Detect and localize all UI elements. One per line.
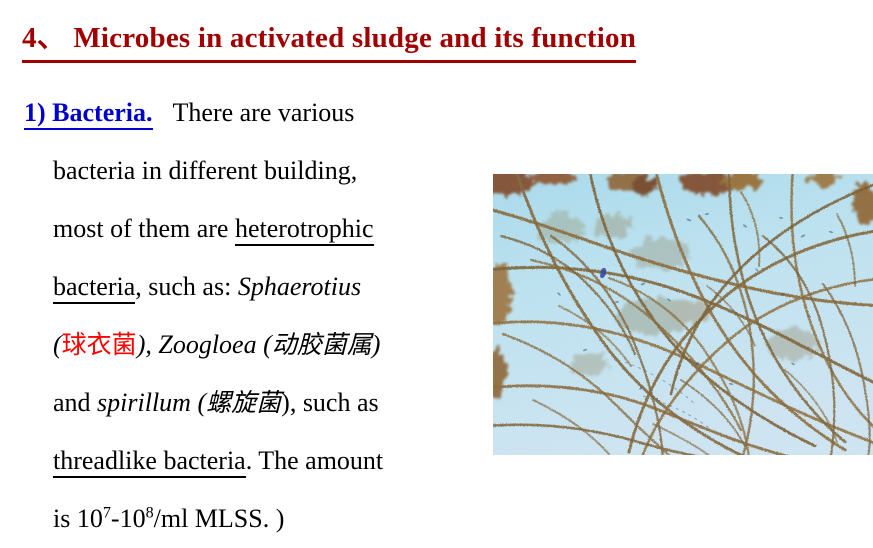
page-title: 4、 Microbes in activated sludge and its … — [22, 14, 722, 63]
line-8-prefix: is 10 — [53, 504, 103, 533]
paren-open-2: ( — [257, 330, 272, 359]
body-text-block: 1) Bacteria.There are various bacteria i… — [24, 84, 494, 548]
body-line-7: threadlike bacteria. The amount — [24, 432, 494, 490]
chinese-term-luoxuanjun: 螺旋菌 — [206, 388, 281, 417]
line-6-prefix: and — [53, 388, 97, 417]
underlined-term-heterotrophic: heterotrophic — [235, 214, 374, 246]
line-7-rest: . The amount — [246, 446, 383, 475]
exponent-8: 8 — [146, 504, 154, 521]
line-8-mid: -10 — [111, 504, 146, 533]
species-name-zoogloea: Zoogloea — [158, 330, 256, 359]
line-6-suffix: ), such as — [281, 388, 378, 417]
lead-label: 1) Bacteria. — [24, 98, 153, 130]
line-1-rest: There are various — [173, 98, 355, 127]
body-line-1: 1) Bacteria.There are various — [24, 84, 494, 142]
paren-open-3: ( — [191, 388, 206, 417]
underlined-term-bacteria: bacteria — [53, 272, 135, 304]
species-name-spirillum: spirillum — [97, 388, 191, 417]
line-2-text: bacteria in different building, — [53, 156, 357, 185]
body-line-6: and spirillum (螺旋菌), such as — [24, 374, 494, 432]
filamentous-bacteria-micrograph — [493, 174, 873, 455]
body-line-5: (球衣菌), Zoogloea (动胶菌属) — [24, 316, 494, 374]
underlined-term-threadlike-bacteria: threadlike bacteria — [53, 446, 246, 478]
body-line-2: bacteria in different building, — [24, 142, 494, 200]
body-line-4: bacteria, such as: Sphaerotius — [24, 258, 494, 316]
chinese-term-dongjiaojunshu: 动胶菌属 — [272, 330, 372, 359]
micrograph-svg — [493, 174, 873, 455]
species-name-sphaerotius: Sphaerotius — [238, 272, 361, 301]
paren-open: ( — [53, 330, 62, 359]
paren-close-2: ) — [372, 330, 381, 359]
line-8-suffix: /ml MLSS. ) — [154, 504, 285, 533]
page-title-text: 4、 Microbes in activated sludge and its … — [22, 14, 636, 63]
body-line-8: is 107-108/ml MLSS. ) — [24, 490, 494, 548]
chinese-term-qiuyijun: 球衣菌 — [62, 330, 137, 359]
line-3-prefix: most of them are — [53, 214, 235, 243]
body-line-3: most of them are heterotrophic — [24, 200, 494, 258]
exponent-7: 7 — [103, 504, 111, 521]
line-4-mid: , such as: — [135, 272, 238, 301]
paren-close: ), — [137, 330, 159, 359]
micrograph-canvas — [493, 174, 873, 455]
